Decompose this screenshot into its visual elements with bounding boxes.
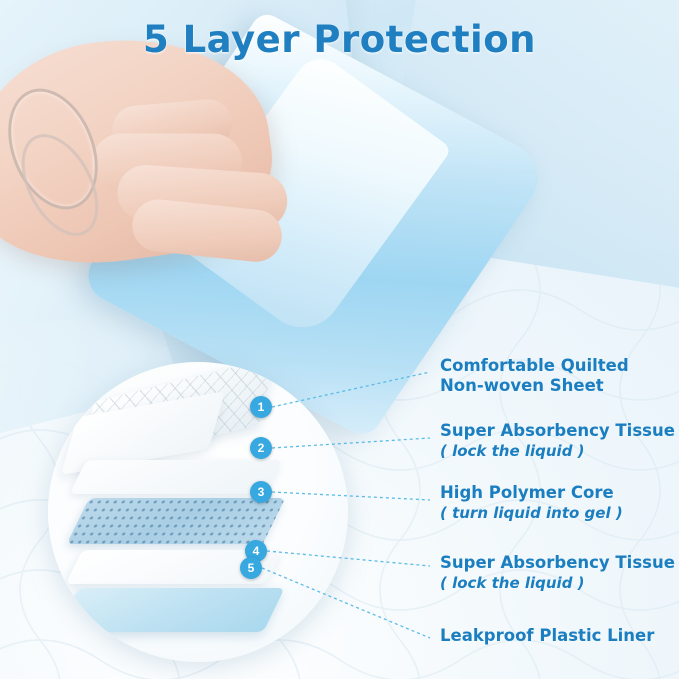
layer-3-polymer-core (67, 498, 285, 544)
product-infographic: 5 Layer Protection 1 2 3 4 5 Comfortable… (0, 0, 679, 679)
callout-4-line1: Super Absorbency Tissue (440, 553, 675, 573)
callout-3-line1: High Polymer Core (440, 483, 623, 503)
callout-2: Super Absorbency Tissue ( lock the liqui… (440, 421, 675, 461)
layer-badge-2: 2 (250, 437, 272, 459)
layer-badge-1: 1 (250, 396, 272, 418)
callout-5: Leakproof Plastic Liner (440, 626, 654, 646)
callout-1: Comfortable Quilted Non-woven Sheet (440, 356, 629, 396)
page-title: 5 Layer Protection (0, 18, 679, 61)
callout-1-line2: Non-woven Sheet (440, 376, 629, 396)
layer-5-plastic-liner (57, 588, 284, 632)
callout-4: Super Absorbency Tissue ( lock the liqui… (440, 553, 675, 593)
callout-2-line1: Super Absorbency Tissue (440, 421, 675, 441)
polymer-dot-texture (67, 498, 285, 544)
layer-badge-5: 5 (240, 557, 262, 579)
callout-4-line2: ( lock the liquid ) (440, 573, 675, 593)
layer-cutaway-circle (48, 362, 348, 662)
callout-5-line1: Leakproof Plastic Liner (440, 626, 654, 646)
callout-3: High Polymer Core ( turn liquid into gel… (440, 483, 623, 523)
callout-1-line1: Comfortable Quilted (440, 356, 629, 376)
callout-3-line2: ( turn liquid into gel ) (440, 503, 623, 523)
layer-badge-3: 3 (250, 481, 272, 503)
callout-2-line2: ( lock the liquid ) (440, 441, 675, 461)
